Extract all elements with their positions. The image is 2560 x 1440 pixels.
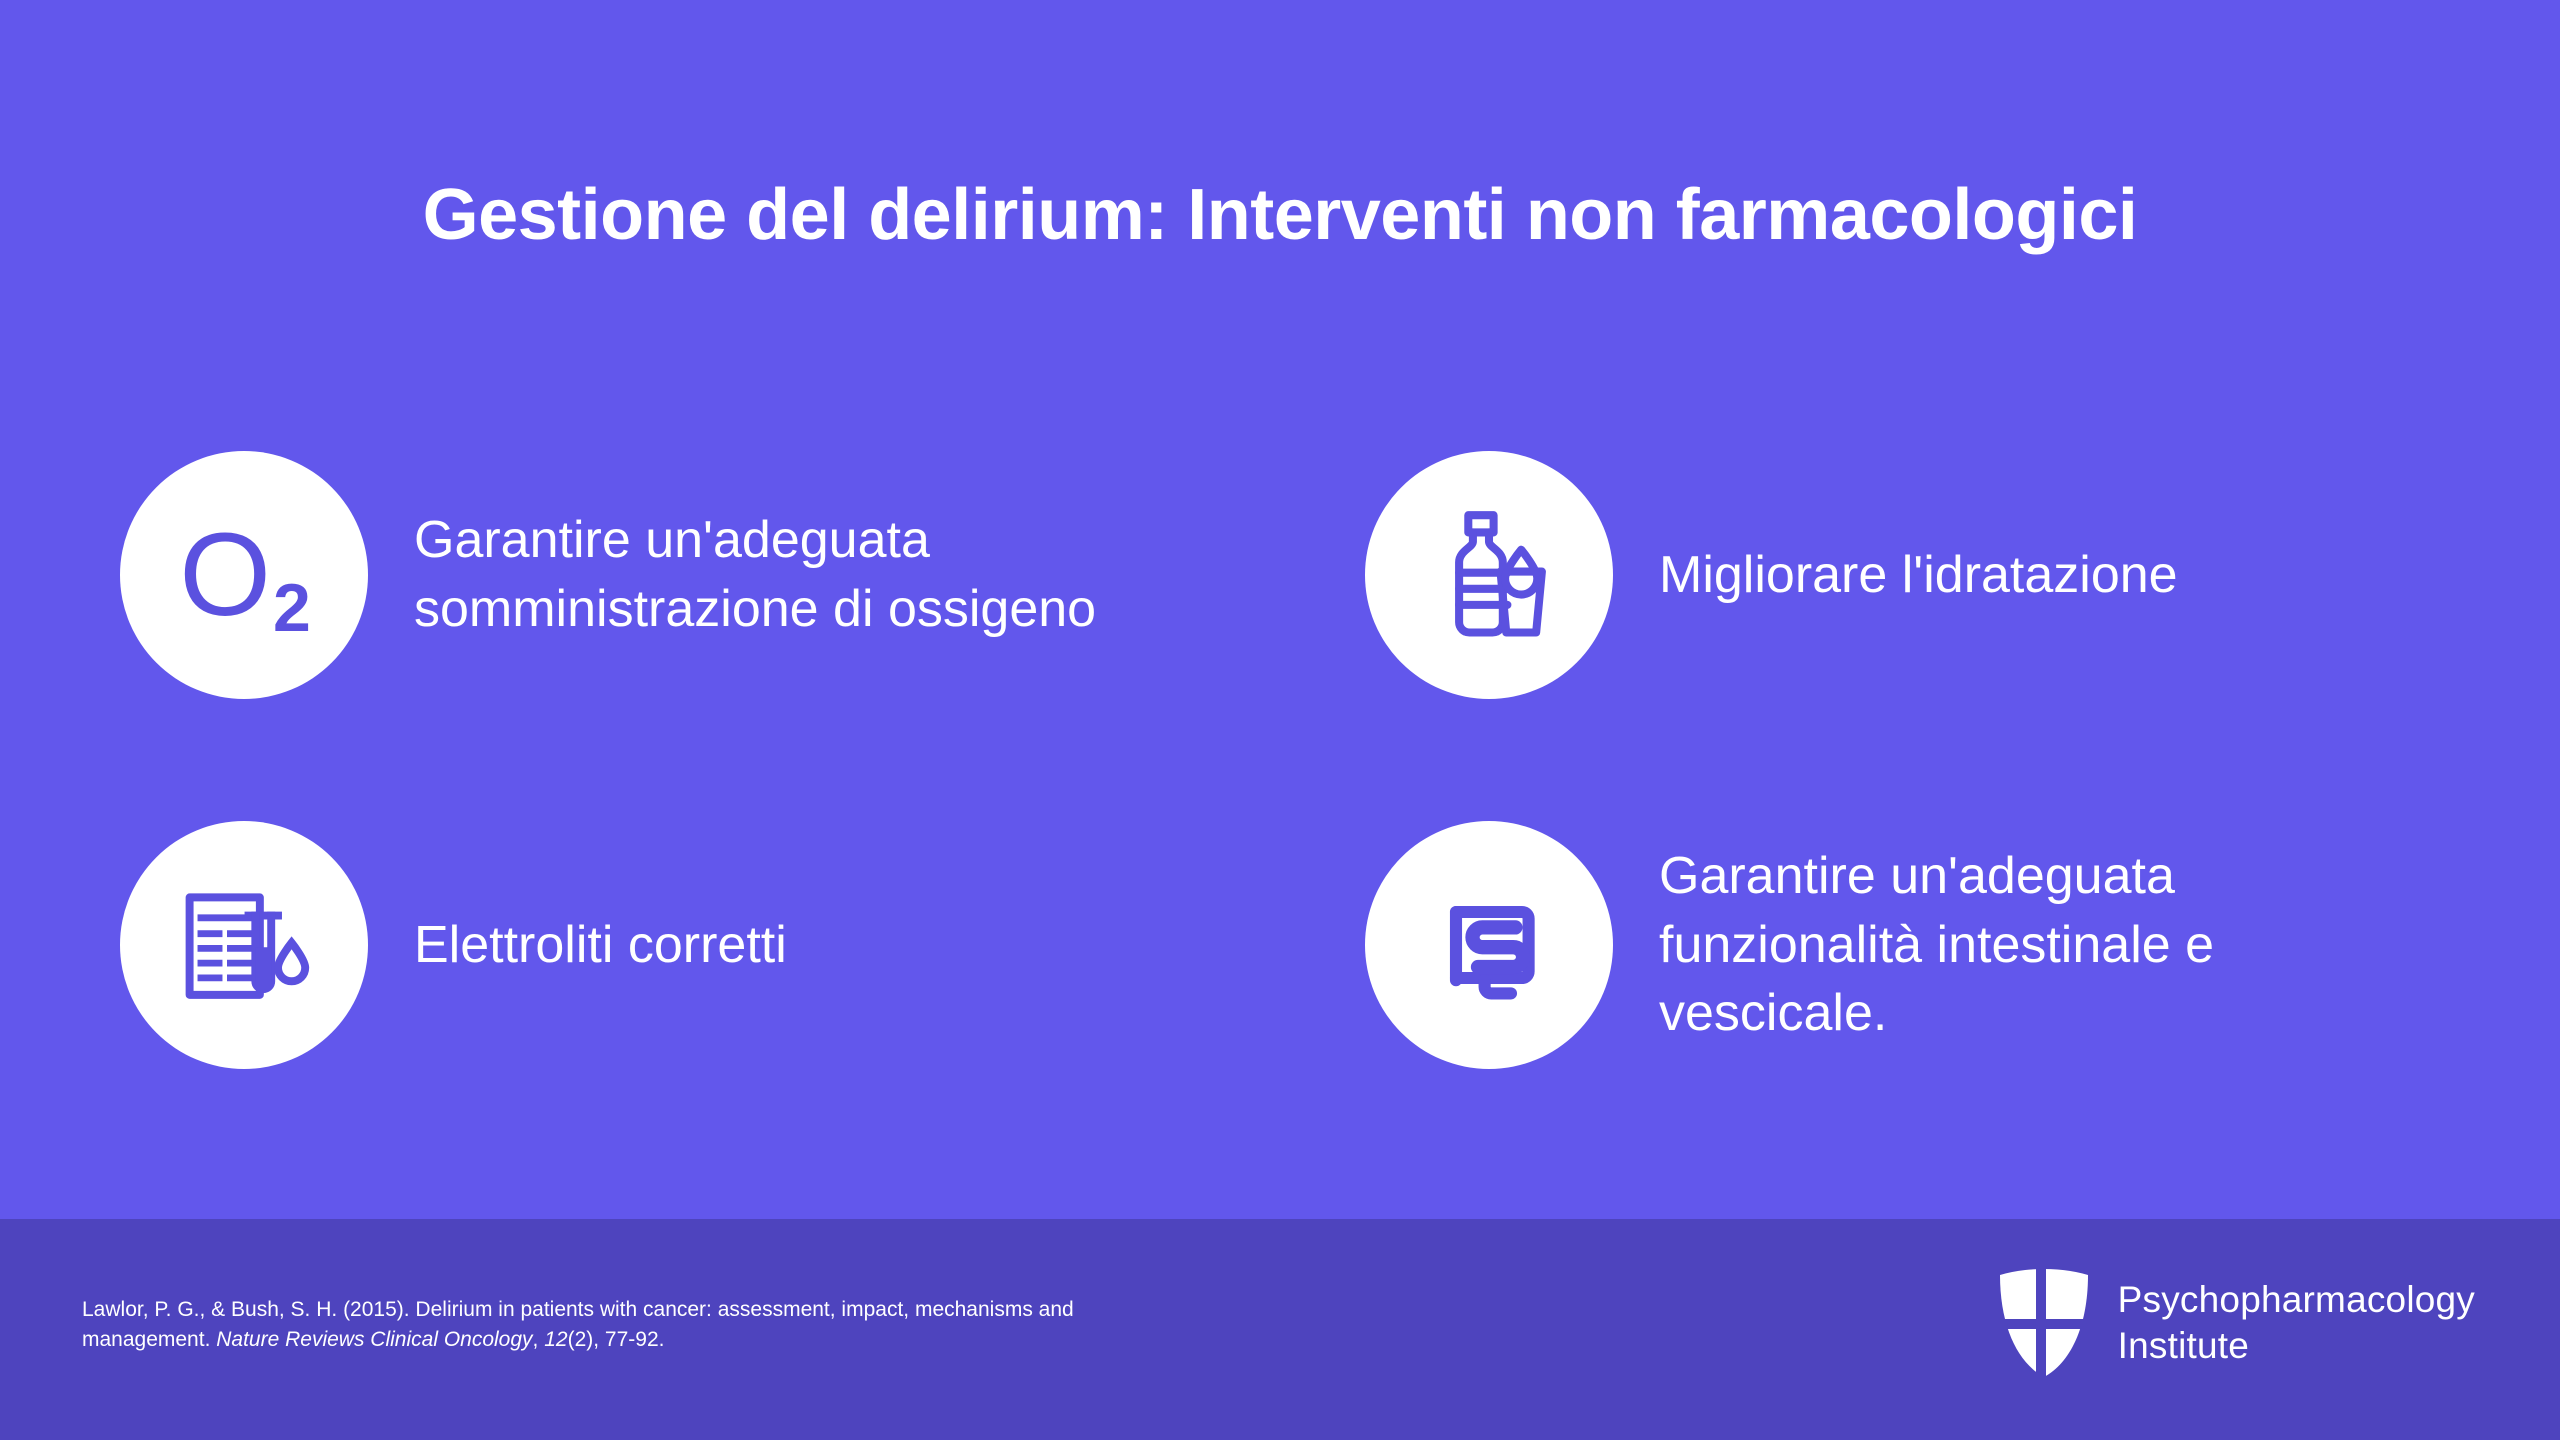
lab-report-test-tube-icon <box>120 821 368 1069</box>
intervention-item-hydration: Migliorare l'idratazione <box>1365 390 2450 760</box>
citation-journal: Nature Reviews Clinical Oncology <box>216 1328 532 1351</box>
o2-main: O <box>179 516 271 634</box>
intervention-grid: O2 Garantire un'adeguata somministrazion… <box>120 390 2450 1130</box>
page-title: Gestione del delirium: Interventi non fa… <box>0 176 2560 255</box>
o2-subscript: 2 <box>273 574 311 642</box>
citation-text: Lawlor, P. G., & Bush, S. H. (2015). Del… <box>82 1295 1182 1355</box>
lab-report-test-tube-glyph <box>176 877 312 1013</box>
citation-part3: (2), 77-92. <box>568 1328 665 1351</box>
shield-logo-icon <box>1996 1267 2092 1379</box>
footer-bar: Lawlor, P. G., & Bush, S. H. (2015). Del… <box>0 1219 2560 1440</box>
o2-glyph: O2 <box>179 516 309 634</box>
water-bottle-glass-icon <box>1365 451 1613 699</box>
slide-root: Gestione del delirium: Interventi non fa… <box>0 0 2560 1440</box>
oxygen-o2-icon: O2 <box>120 451 368 699</box>
intervention-label-hydration: Migliorare l'idratazione <box>1659 541 2178 610</box>
intervention-label-electrolytes: Elettroliti corretti <box>414 911 787 980</box>
intervention-label-oxygen: Garantire un'adeguata somministrazione d… <box>414 506 1134 643</box>
brand-line-1: Psychopharmacology <box>2118 1277 2475 1323</box>
brand-name: Psychopharmacology Institute <box>2118 1277 2475 1369</box>
intervention-item-bowel: Garantire un'adeguata funzionalità intes… <box>1365 760 2450 1130</box>
intestine-bowel-glyph <box>1423 879 1555 1011</box>
brand-logo: Psychopharmacology Institute <box>1996 1267 2475 1379</box>
water-bottle-glass-glyph <box>1420 506 1558 644</box>
citation-volume: 12 <box>544 1328 567 1351</box>
intervention-label-bowel: Garantire un'adeguata funzionalità intes… <box>1659 842 2419 1048</box>
intervention-item-oxygen: O2 Garantire un'adeguata somministrazion… <box>120 390 1365 760</box>
citation-part2: , <box>533 1328 545 1351</box>
brand-line-2: Institute <box>2118 1323 2475 1369</box>
intestine-bowel-icon <box>1365 821 1613 1069</box>
intervention-item-electrolytes: Elettroliti corretti <box>120 760 1365 1130</box>
